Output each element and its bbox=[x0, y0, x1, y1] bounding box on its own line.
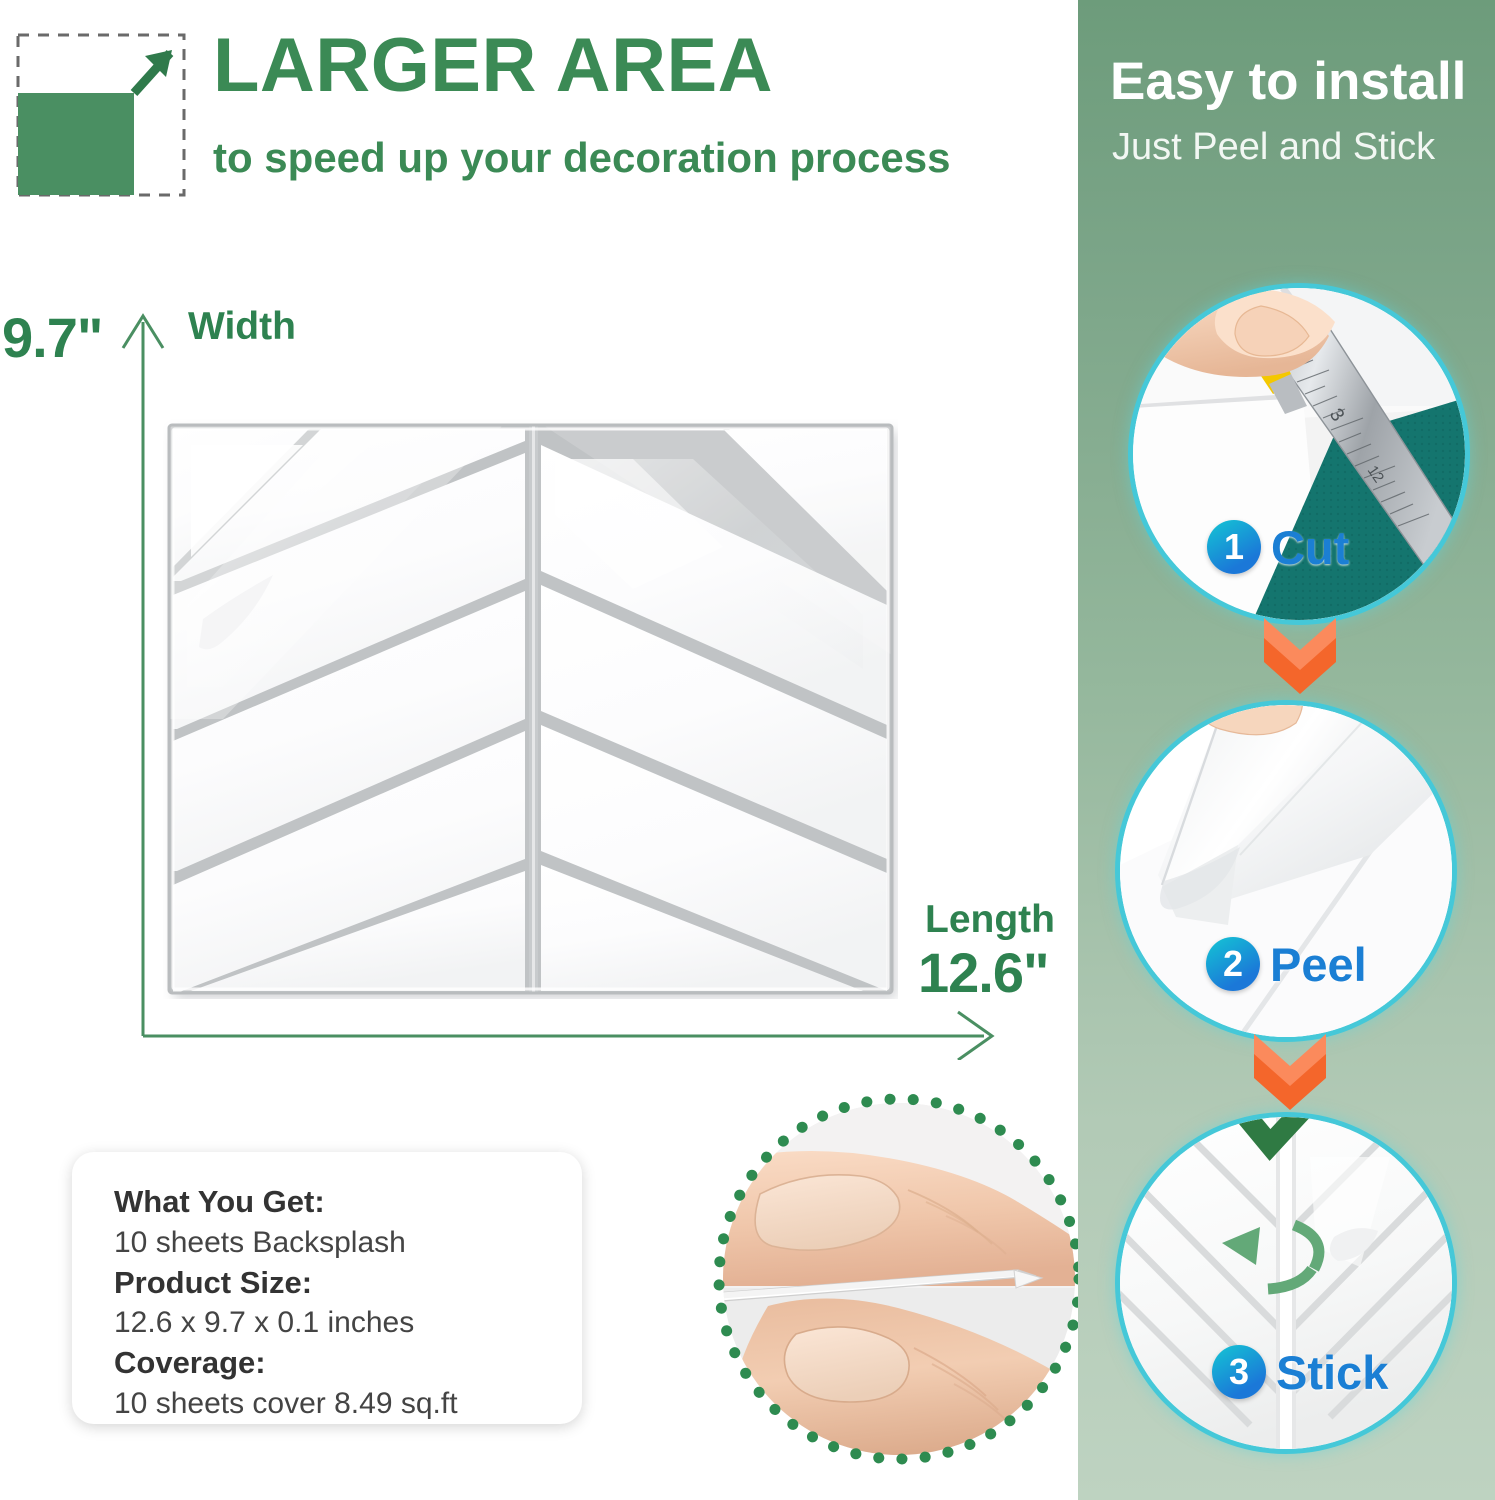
step-3-label: Stick bbox=[1276, 1349, 1388, 1396]
height-dimension-label: 9.7" bbox=[2, 305, 102, 370]
page-subtitle: to speed up your decoration process bbox=[213, 137, 1093, 179]
chevron-down-arrow-1-icon bbox=[1258, 616, 1342, 694]
step-2-badge-group: 2 Peel bbox=[1206, 937, 1367, 991]
product-tile-image bbox=[163, 419, 898, 999]
product-infographic: LARGER AREA to speed up your decoration … bbox=[0, 0, 1495, 1500]
what-you-get-label: What You Get: bbox=[114, 1182, 582, 1223]
install-subtitle: Just Peel and Stick bbox=[1112, 128, 1495, 166]
product-size-label: Product Size: bbox=[114, 1263, 582, 1304]
chevron-down-arrow-2-icon bbox=[1248, 1032, 1332, 1110]
step-1-label: Cut bbox=[1271, 524, 1349, 571]
step-1-number: 1 bbox=[1207, 520, 1261, 574]
coverage-value: 10 sheets cover 8.49 sq.ft bbox=[114, 1384, 582, 1424]
step-2-number: 2 bbox=[1206, 937, 1260, 991]
step-3-number: 3 bbox=[1212, 1345, 1266, 1399]
dotted-ring-decoration bbox=[708, 1088, 1090, 1470]
page-title: LARGER AREA bbox=[213, 28, 1073, 104]
coverage-label: Coverage: bbox=[114, 1343, 582, 1384]
product-size-value: 12.6 x 9.7 x 0.1 inches bbox=[114, 1303, 582, 1343]
area-expand-icon bbox=[12, 30, 190, 200]
info-card: What You Get: 10 sheets Backsplash Produ… bbox=[72, 1152, 582, 1424]
left-panel: LARGER AREA to speed up your decoration … bbox=[0, 0, 1078, 1500]
step-1-badge-group: 1 Cut bbox=[1207, 520, 1349, 574]
step-3-badge-group: 3 Stick bbox=[1212, 1345, 1388, 1399]
step-3-photo-stick bbox=[1120, 1117, 1452, 1449]
what-you-get-value: 10 sheets Backsplash bbox=[114, 1223, 582, 1263]
install-title: Easy to install bbox=[1110, 55, 1495, 108]
step-2-label: Peel bbox=[1270, 941, 1367, 988]
